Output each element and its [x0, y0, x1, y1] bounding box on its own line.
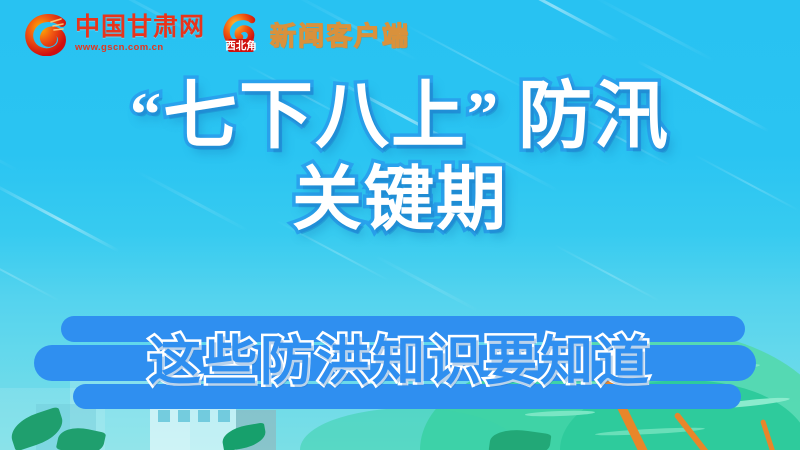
gscn-logo-group[interactable]: 中国甘肃网 www.gscn.com.cn [24, 12, 205, 56]
gscn-site-url: www.gscn.com.cn [75, 43, 205, 53]
headline-keyword: 防汛 [518, 76, 670, 158]
green-hill-left-small [300, 408, 520, 450]
green-leaf [488, 426, 551, 450]
gscn-swirl-logo-icon [24, 12, 68, 56]
quote-close: ” [467, 81, 500, 149]
app-logo-group[interactable]: 西北角 新闻客户端 [221, 13, 410, 55]
grass-blade [595, 426, 705, 437]
orange-branch-small [760, 419, 776, 450]
headline-line-1: “七下八上”防汛 [0, 74, 800, 158]
subtitle-banner: 这些防洪知识要知道 [0, 316, 800, 409]
building-block-mid-left [36, 404, 96, 450]
headline-block: “七下八上”防汛 关键期 [0, 74, 800, 240]
green-leaf [220, 422, 267, 450]
gscn-site-name: 中国甘肃网 [75, 15, 205, 40]
quote-open: “ [130, 81, 163, 149]
subtitle-text: 这些防洪知识要知道 [0, 334, 800, 390]
svg-text:西北角: 西北角 [225, 39, 257, 52]
window [198, 410, 210, 422]
orange-branch-secondary [673, 412, 711, 450]
header-logos: 中国甘肃网 www.gscn.com.cn [24, 12, 410, 56]
headline-line-2: 关键期 [0, 162, 800, 240]
green-leaf [56, 424, 106, 450]
window [178, 410, 190, 422]
xibeijiao-swirl-logo-icon: 西北角 [221, 13, 263, 55]
window [158, 410, 170, 422]
gscn-wordmark: 中国甘肃网 www.gscn.com.cn [75, 15, 205, 53]
building-block-right-of-tower [236, 410, 276, 450]
headline-quoted-phrase: 七下八上 [163, 76, 467, 158]
window [218, 410, 230, 422]
app-name-label: 新闻客户端 [270, 16, 410, 53]
grass-blade [525, 410, 595, 417]
green-leaf [7, 406, 68, 450]
poster-canvas: 中国甘肃网 www.gscn.com.cn [0, 0, 800, 450]
